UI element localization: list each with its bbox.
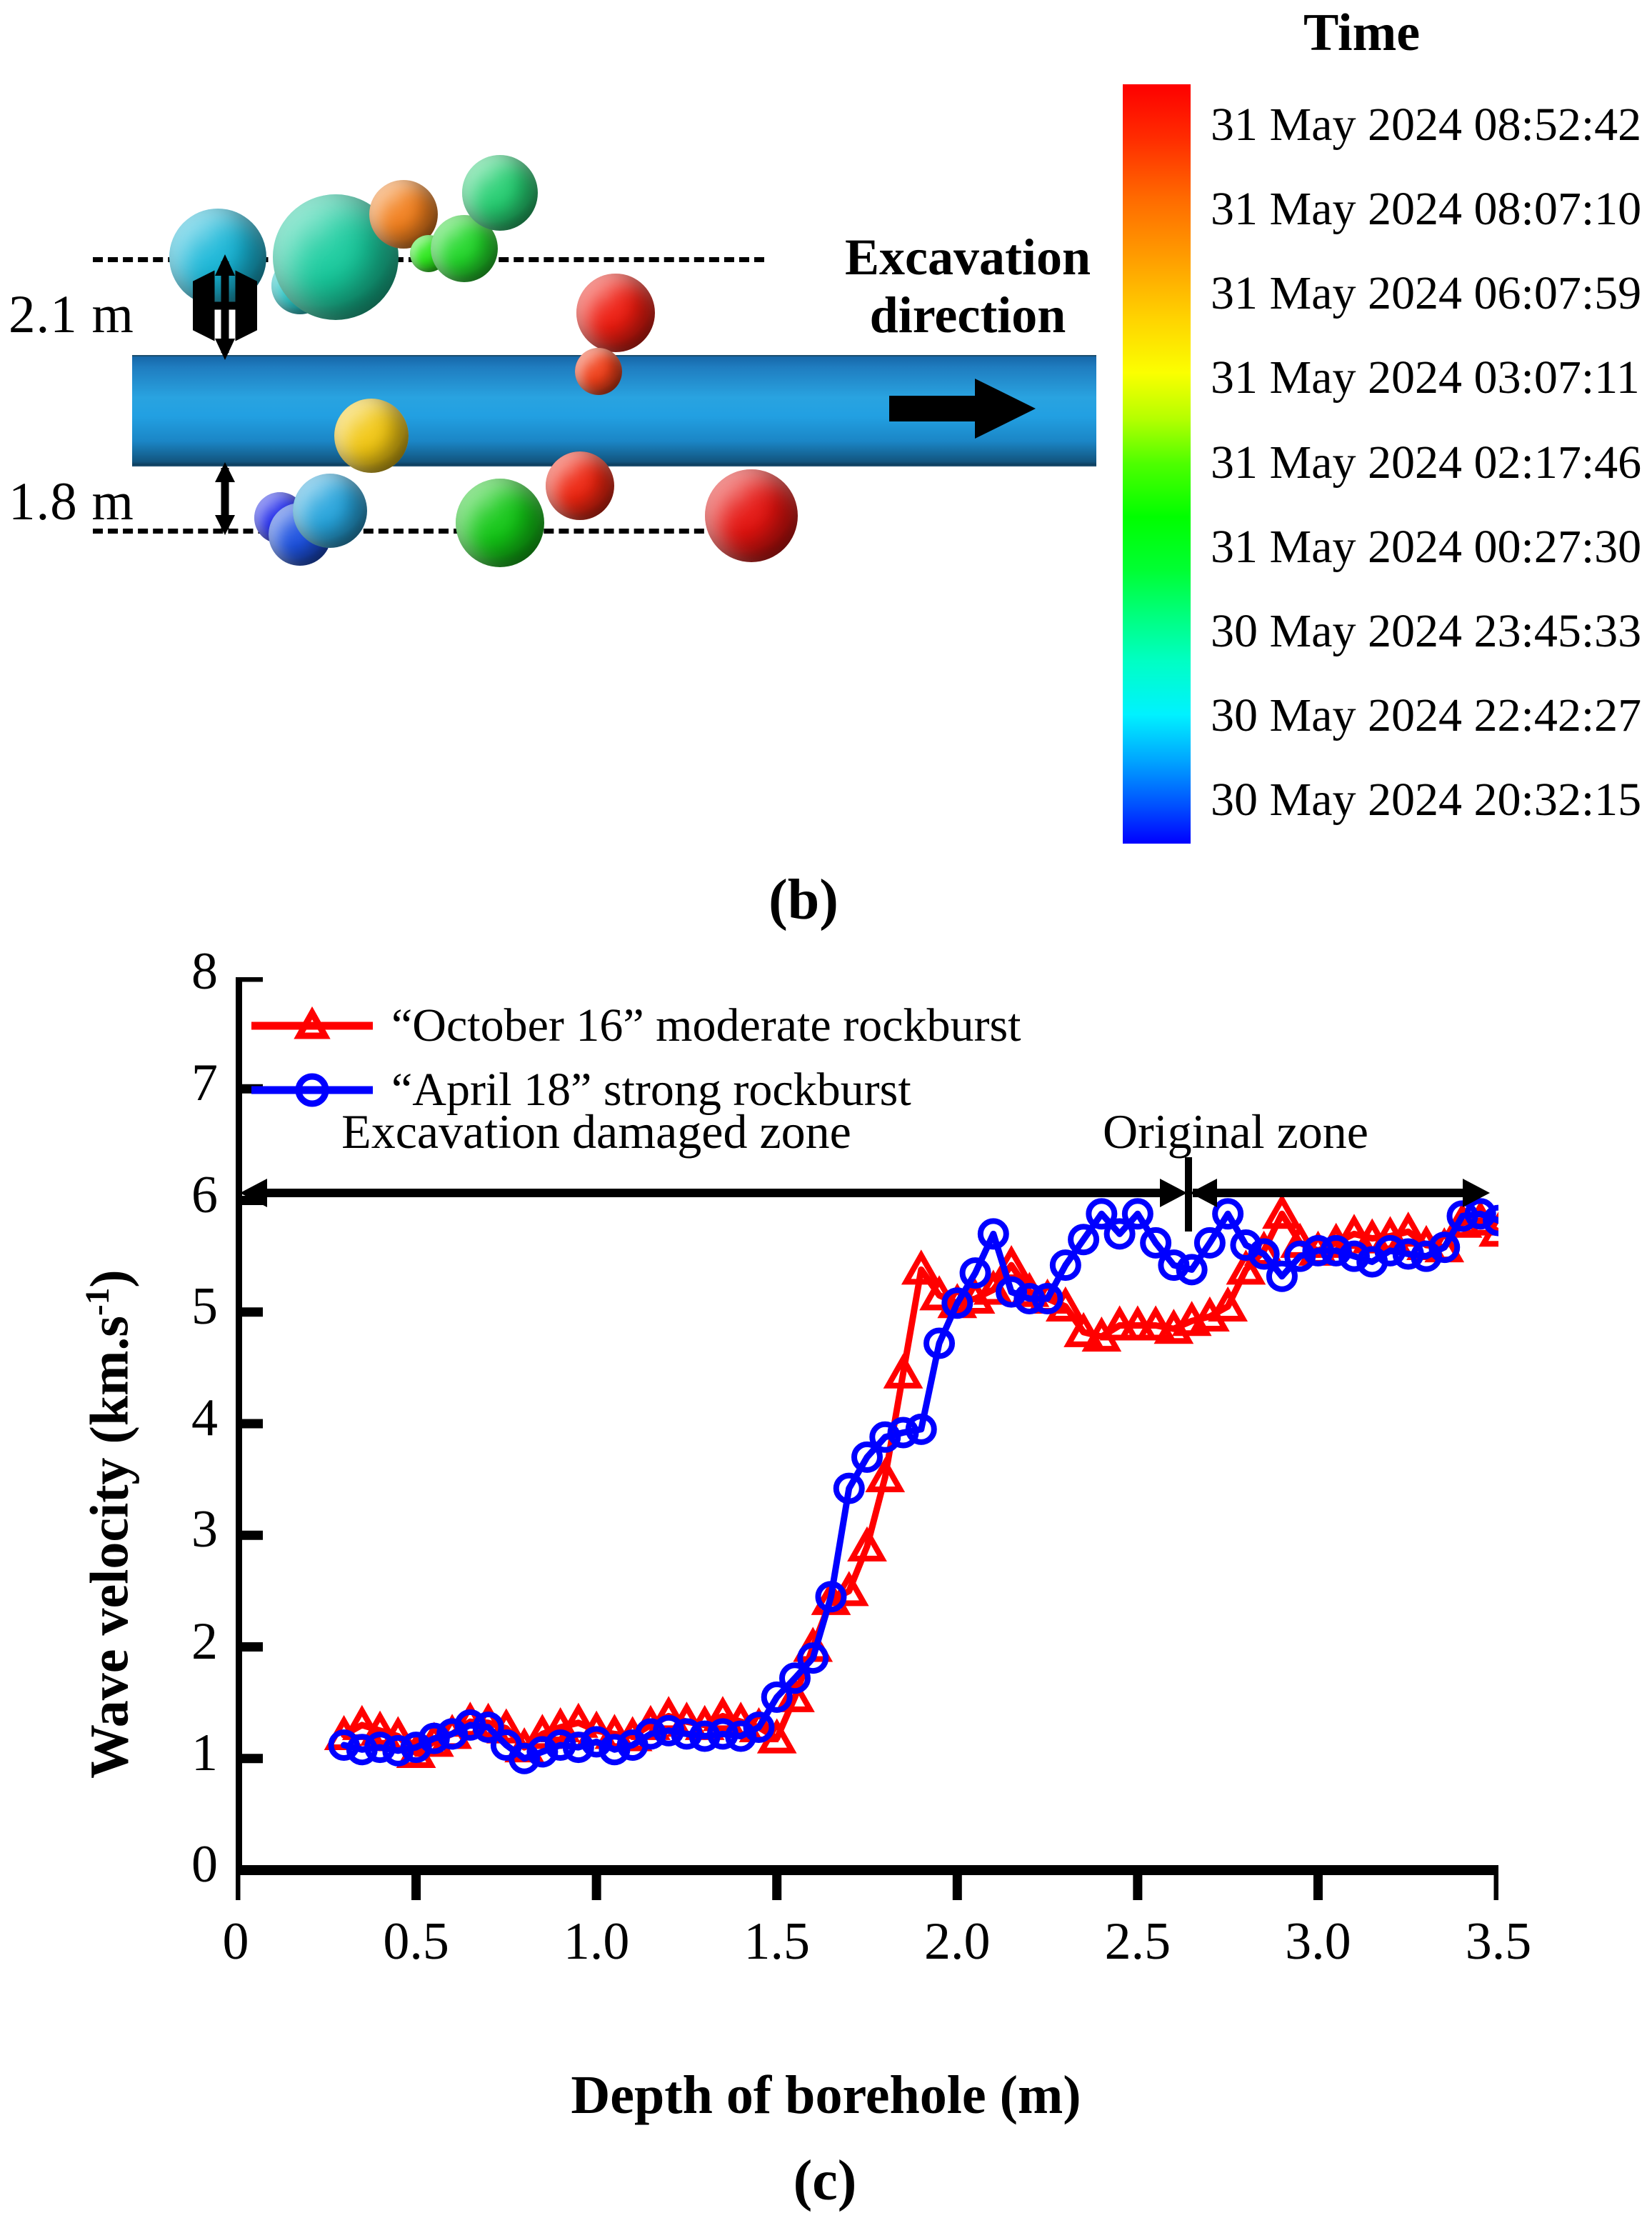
excavation-direction-label: Excavation direction xyxy=(832,229,1103,344)
microseismic-event-sphere xyxy=(575,348,622,395)
x-axis-label: Depth of borehole (m) xyxy=(0,2064,1652,2127)
legend-entry-0: “October 16” moderate rockburst xyxy=(251,999,1021,1053)
microseismic-event-sphere xyxy=(334,399,409,473)
series-strong-rockburst xyxy=(331,1201,1498,1772)
x-axis-tick-label: 3.0 xyxy=(1246,1912,1389,1972)
zone-label-1: Original zone xyxy=(993,1104,1478,1160)
series-moderate-rockburst xyxy=(329,1199,1498,1765)
colorbar-label: 31 May 2024 08:52:42 xyxy=(1211,98,1641,152)
dimension-label-bottom: 1.8 m xyxy=(9,471,134,533)
y-axis-tick-label: 5 xyxy=(139,1277,218,1337)
microseismic-event-sphere xyxy=(546,451,614,520)
colorbar-label: 31 May 2024 08:07:10 xyxy=(1211,182,1641,236)
colorbar-label: 30 May 2024 23:45:33 xyxy=(1211,604,1641,659)
dimension-label-top: 2.1 m xyxy=(9,284,134,346)
dimension-arrow-top xyxy=(193,251,257,366)
x-axis-tick-label: 0 xyxy=(164,1912,307,1972)
zone-label-0: Excavation damaged zone xyxy=(236,1104,957,1160)
colorbar-label: 31 May 2024 06:07:59 xyxy=(1211,266,1641,321)
zone-annotation-arrows xyxy=(236,1157,1507,1243)
y-axis-tick-label: 6 xyxy=(139,1165,218,1226)
y-axis-tick-label: 8 xyxy=(139,941,218,1002)
x-axis-tick-label: 3.5 xyxy=(1427,1912,1570,1972)
excavation-direction-arrow xyxy=(889,371,1039,449)
excavation-label-line-1: Excavation xyxy=(845,229,1091,286)
colorbar-label: 31 May 2024 00:27:30 xyxy=(1211,520,1641,574)
y-axis-tick-label: 1 xyxy=(139,1723,218,1784)
colorbar-label: 31 May 2024 03:07:11 xyxy=(1211,351,1640,405)
colorbar-title: Time xyxy=(1303,3,1420,64)
legend-marker-triangle-icon xyxy=(251,1004,373,1047)
x-axis-tick-label: 0.5 xyxy=(345,1912,488,1972)
y-axis-tick-label: 0 xyxy=(139,1834,218,1895)
dimension-arrow-bottom xyxy=(193,461,257,538)
y-axis-tick-label: 3 xyxy=(139,1499,218,1560)
panel-c-wave-velocity-chart: Wave velocity (km.s-1) “October 16” mode… xyxy=(0,921,1652,2228)
microseismic-event-sphere xyxy=(293,474,367,548)
colorbar-label: 30 May 2024 20:32:15 xyxy=(1211,773,1641,827)
x-axis-tick-label: 2.0 xyxy=(886,1912,1028,1972)
y-axis-tick-label: 2 xyxy=(139,1612,218,1672)
colorbar-gradient xyxy=(1123,84,1191,844)
y-axis-tick-label: 7 xyxy=(139,1053,218,1114)
time-colorbar: Time 31 May 2024 08:52:4231 May 2024 08:… xyxy=(1118,0,1652,886)
x-axis-tick-label: 1.5 xyxy=(706,1912,848,1972)
x-axis-tick-label: 1.0 xyxy=(525,1912,668,1972)
panel-b-microseismic-distribution: 2.1 m 1.8 m Excavation direction Time 31… xyxy=(0,0,1652,921)
panel-c-tag: (c) xyxy=(707,2149,943,2214)
microseismic-event-sphere xyxy=(705,469,798,562)
series-line xyxy=(344,1214,1498,1753)
excavation-label-line-2: direction xyxy=(870,286,1066,344)
microseismic-event-sphere xyxy=(456,479,544,567)
y-axis-tick-label: 4 xyxy=(139,1388,218,1449)
colorbar-label: 30 May 2024 22:42:27 xyxy=(1211,689,1641,743)
microseismic-event-sphere xyxy=(576,274,655,352)
legend-label-0: “October 16” moderate rockburst xyxy=(391,999,1021,1053)
series-line xyxy=(344,1214,1498,1759)
microseismic-event-sphere xyxy=(462,155,538,231)
y-axis-label: Wave velocity (km.s-1) xyxy=(79,1269,141,1779)
x-axis-tick-label: 2.5 xyxy=(1066,1912,1209,1972)
colorbar-label: 31 May 2024 02:17:46 xyxy=(1211,436,1641,490)
